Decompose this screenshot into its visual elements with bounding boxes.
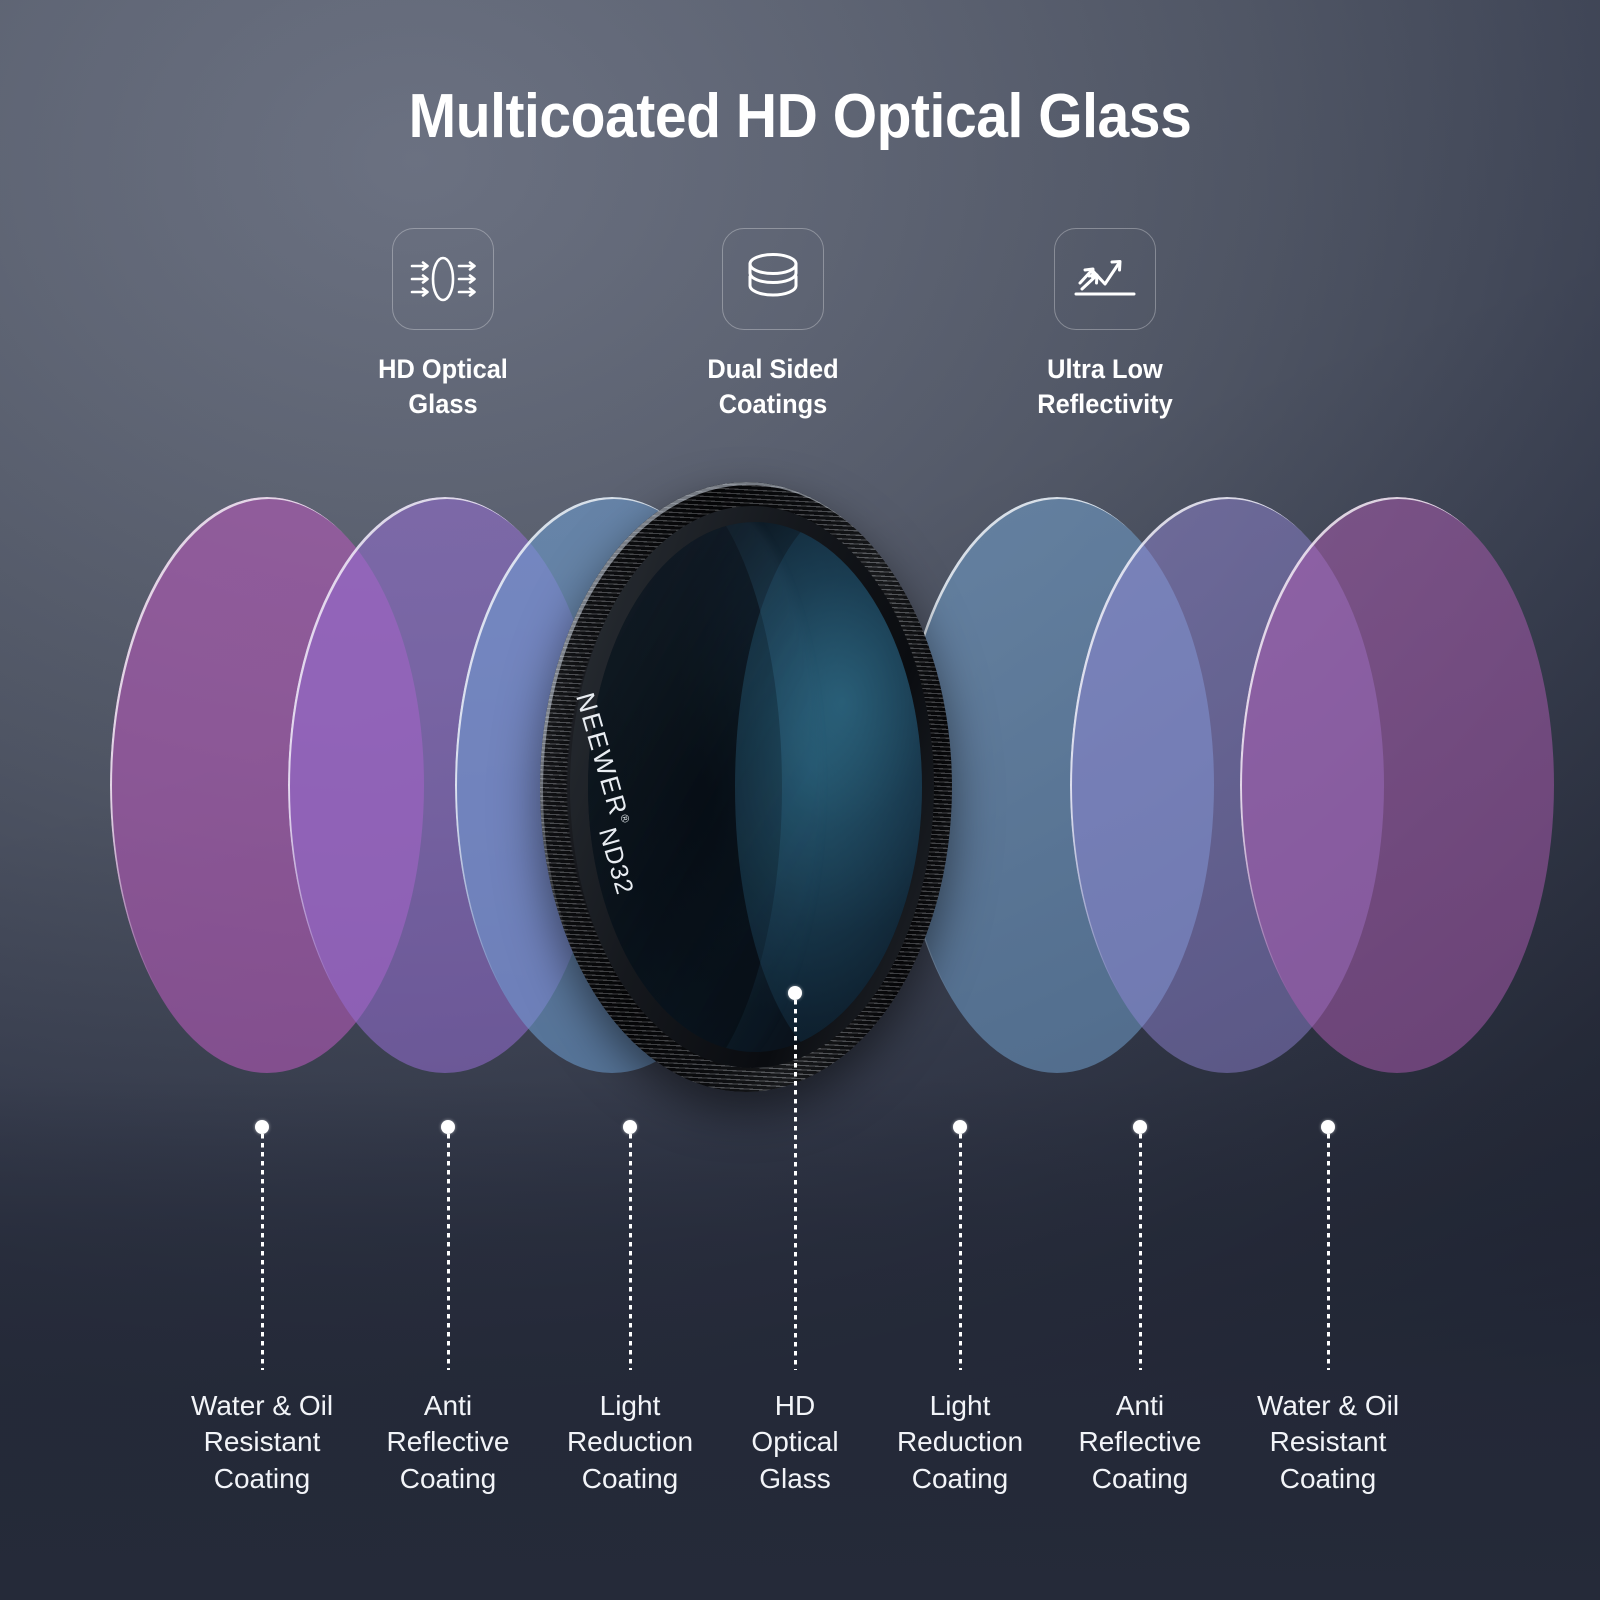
callout-label-line2: Reflective [343,1424,553,1460]
callout-label-line3: Coating [1223,1461,1433,1497]
infographic-canvas: NEEWER® ND32 Multicoated HD Optical Glas… [0,0,1600,1600]
callout-dot [953,1120,967,1134]
callout-label: Light Reduction Coating [855,1388,1065,1497]
callout-dotted-line [1139,1134,1142,1370]
callout-dotted-line [261,1134,264,1370]
callout-dotted-line [447,1134,450,1370]
callout-label: Water & Oil Resistant Coating [157,1388,367,1497]
callout-label-line1: Light [855,1388,1065,1424]
callout-dot [788,986,802,1000]
callout-dotted-line [1327,1134,1330,1370]
callout-label-line1: Water & Oil [1223,1388,1433,1424]
callout-label: Water & Oil Resistant Coating [1223,1388,1433,1497]
callout-dot [1321,1120,1335,1134]
callout-dotted-line [959,1134,962,1370]
callout-label-line2: Resistant [157,1424,367,1460]
callout-dot [1133,1120,1147,1134]
callout-label-line3: Coating [343,1461,553,1497]
callout-group: Water & Oil Resistant Coating Anti Refle… [0,0,1600,1600]
callout-label: Anti Reflective Coating [1035,1388,1245,1497]
callout-label: Anti Reflective Coating [343,1388,553,1497]
callout-label-line1: Anti [1035,1388,1245,1424]
callout-label-line3: Coating [855,1461,1065,1497]
callout-label-line3: Coating [1035,1461,1245,1497]
callout-label-line3: Coating [157,1461,367,1497]
callout-label-line2: Resistant [1223,1424,1433,1460]
callout-dot [441,1120,455,1134]
callout-dot [255,1120,269,1134]
callout-dot [623,1120,637,1134]
callout-label-line2: Reduction [855,1424,1065,1460]
callout-dotted-line [794,1000,797,1370]
callout-label-line1: Water & Oil [157,1388,367,1424]
callout-dotted-line [629,1134,632,1370]
callout-label-line1: Anti [343,1388,553,1424]
callout-label-line2: Reflective [1035,1424,1245,1460]
